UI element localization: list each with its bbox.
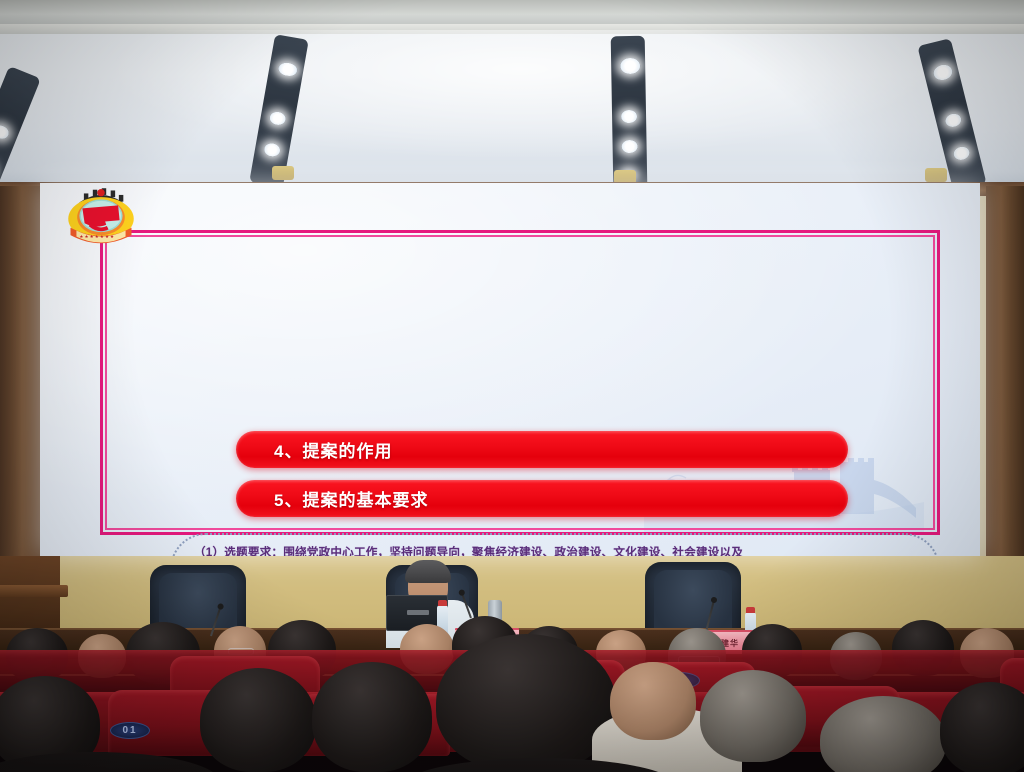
seat-number-badge: 01 <box>110 722 150 739</box>
audience-head-foreground <box>200 668 316 772</box>
slide-heading-1: 4、提案的作用 <box>236 431 848 468</box>
seat-number-label: 01 <box>122 725 137 736</box>
conference-hall-photo: ★ ★ ★ ★ ★ ★ ★ <box>0 0 1024 772</box>
bottle-cap <box>438 600 447 606</box>
projection-screen[interactable]: ★ ★ ★ ★ ★ ★ ★ <box>40 183 980 556</box>
slide-body-box: （1）选题要求：围绕党政中心工作，坚持问题导向，聚焦经济建设、政治建设、文化建设… <box>170 533 940 556</box>
slide-heading-2: 5、提案的基本要求 <box>236 480 848 517</box>
slide-heading-1-label: 4、提案的作用 <box>236 437 392 462</box>
audience-head-foreground <box>436 634 616 772</box>
lectern-top <box>0 585 68 597</box>
audience-head-foreground <box>610 662 696 740</box>
audience-head-foreground <box>312 662 432 772</box>
slide-heading-2-label: 5、提案的基本要求 <box>236 486 428 511</box>
speaker-hair <box>405 560 451 583</box>
svg-text:★ ★ ★ ★ ★ ★ ★: ★ ★ ★ ★ ★ ★ ★ <box>79 234 114 239</box>
audience-head-foreground <box>700 670 806 762</box>
cppcc-emblem-icon: ★ ★ ★ ★ ★ ★ ★ <box>60 186 142 250</box>
slide-paragraph-1: （1）选题要求：围绕党政中心工作，坚持问题导向，聚焦经济建设、政治建设、文化建设… <box>194 544 916 556</box>
audience-area: 01 <box>0 612 1024 772</box>
slide-paragraph-1-line: （1）选题要求：围绕党政中心工作，坚持问题导向，聚焦经济建设、政治建设、文化建设… <box>194 544 916 556</box>
